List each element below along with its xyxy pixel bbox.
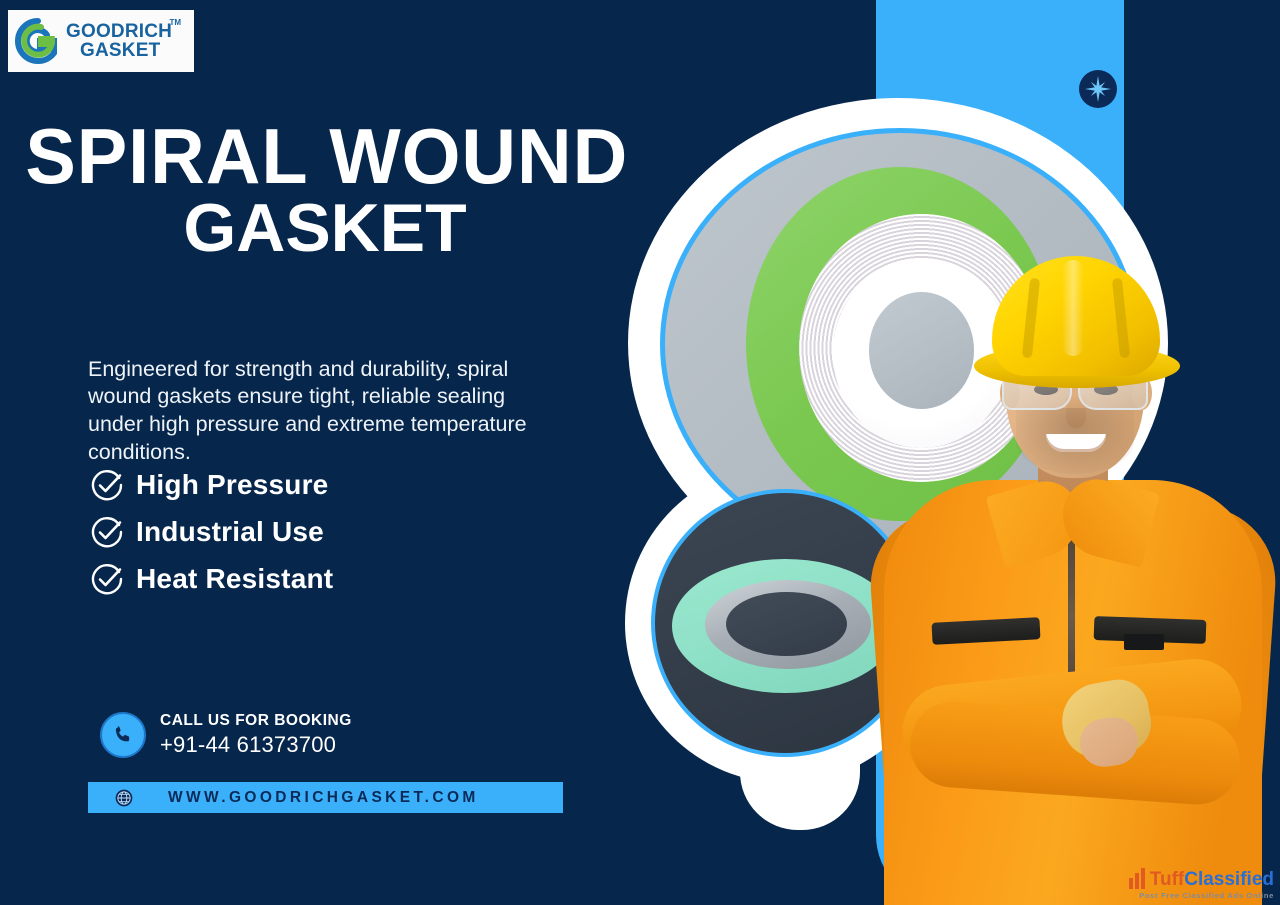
feature-item-heat-resistant: Heat Resistant <box>90 556 520 602</box>
content-column: GOODRICH GASKET TM SPIRAL WOUND GASKET E… <box>0 0 640 905</box>
tuffclassified-watermark: TuffClassified Post Free Classified Ads … <box>1129 868 1274 900</box>
phone-icon <box>100 712 146 758</box>
feature-list: High Pressure Industrial Use <box>90 462 520 603</box>
call-us-text: CALL US FOR BOOKING +91-44 61373700 <box>160 712 352 758</box>
watermark-tagline: Post Free Classified Ads Online <box>1139 891 1274 900</box>
feature-item-industrial-use: Industrial Use <box>90 509 520 555</box>
brand-logo-text: GOODRICH GASKET TM <box>66 22 172 61</box>
goodrich-circular-g-logo-icon <box>14 17 62 65</box>
gasket-small-bore <box>726 592 847 656</box>
brand-logo-line1: GOODRICH <box>66 21 172 42</box>
globe-icon <box>114 788 134 808</box>
worker-smile <box>1046 434 1106 452</box>
watermark-name-row: TuffClassified <box>1129 868 1274 889</box>
check-circle-icon <box>90 562 124 596</box>
watermark-brand-part1: Tuff <box>1150 869 1184 890</box>
watermark-bars-icon <box>1129 868 1147 889</box>
website-url: WWW.GOODRICHGASKET.COM <box>168 789 479 807</box>
watermark-brand: TuffClassified <box>1150 870 1274 889</box>
feature-label: High Pressure <box>136 469 328 501</box>
headline-line-2: GASKET <box>0 193 640 264</box>
call-us-label: CALL US FOR BOOKING <box>160 712 352 730</box>
website-bar[interactable]: WWW.GOODRICHGASKET.COM <box>88 782 563 813</box>
worker-pocket-flap <box>1124 634 1164 650</box>
page-title: SPIRAL WOUND GASKET <box>0 121 640 264</box>
brand-logo-line2: GASKET <box>66 40 160 61</box>
feature-item-high-pressure: High Pressure <box>90 462 520 508</box>
call-us-block[interactable]: CALL US FOR BOOKING +91-44 61373700 <box>100 712 352 758</box>
check-circle-icon <box>90 515 124 549</box>
hard-hat-crest-highlight <box>1062 260 1084 356</box>
feature-label: Industrial Use <box>136 516 324 548</box>
industrial-worker-figure <box>866 248 1280 905</box>
star-burst-icon <box>1079 70 1117 108</box>
feature-label: Heat Resistant <box>136 563 333 595</box>
phone-number: +91-44 61373700 <box>160 732 352 758</box>
promotional-banner: GOODRICH GASKET TM SPIRAL WOUND GASKET E… <box>0 0 1280 905</box>
headline-line-1: SPIRAL WOUND <box>10 121 631 193</box>
trademark-symbol: TM <box>170 19 182 27</box>
check-circle-icon <box>90 468 124 502</box>
description-text: Engineered for strength and durability, … <box>88 356 558 468</box>
brand-logo[interactable]: GOODRICH GASKET TM <box>8 10 194 72</box>
watermark-brand-part2: Classified <box>1184 869 1274 890</box>
